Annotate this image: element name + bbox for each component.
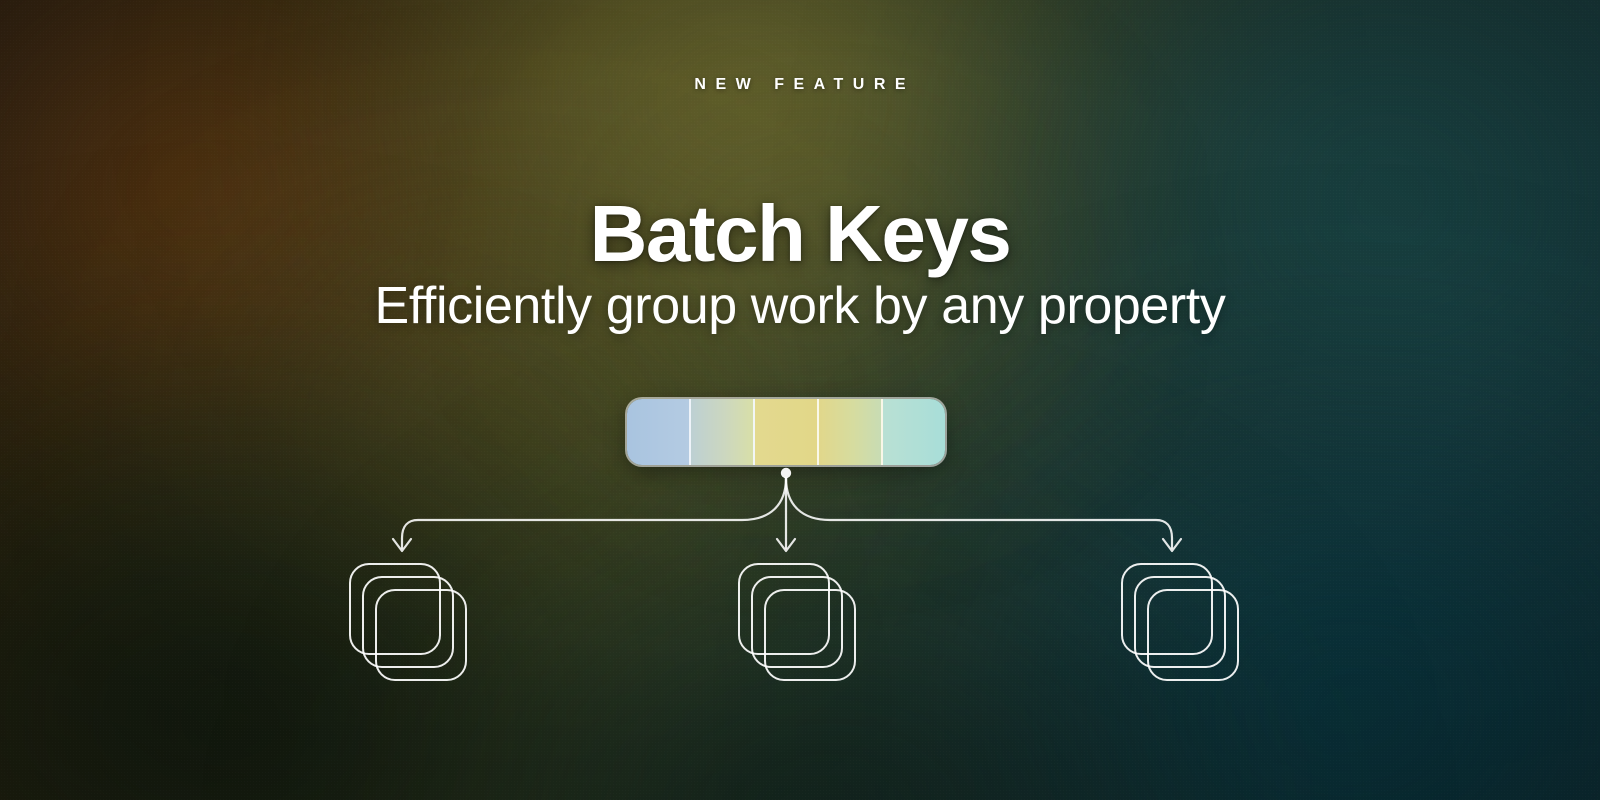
arrowhead-right bbox=[1163, 539, 1181, 551]
connector-path-right bbox=[786, 478, 1172, 548]
bar-segment-4[interactable] bbox=[819, 399, 883, 465]
eyebrow-label: NEW FEATURE bbox=[0, 76, 1600, 94]
card-outline-front bbox=[764, 589, 856, 681]
hero-banner: NEW FEATURE Batch Keys Efficiently group… bbox=[0, 0, 1600, 800]
card-stack-right[interactable] bbox=[1121, 563, 1239, 681]
batch-key-gradient-bar[interactable] bbox=[627, 399, 945, 465]
connector-path-left bbox=[402, 478, 786, 548]
card-stack-center[interactable] bbox=[738, 563, 856, 681]
arrowhead-center bbox=[777, 539, 795, 551]
card-outline-front bbox=[375, 589, 467, 681]
hero-content: NEW FEATURE Batch Keys Efficiently group… bbox=[0, 0, 1600, 800]
card-outline-front bbox=[1147, 589, 1239, 681]
junction-dot bbox=[781, 468, 791, 478]
page-title: Batch Keys bbox=[0, 194, 1600, 274]
bar-segment-3[interactable] bbox=[755, 399, 819, 465]
bar-segment-2[interactable] bbox=[691, 399, 755, 465]
page-subtitle: Efficiently group work by any property bbox=[0, 277, 1600, 335]
card-stack-left[interactable] bbox=[349, 563, 467, 681]
bar-segment-5[interactable] bbox=[883, 399, 945, 465]
bar-segment-1[interactable] bbox=[627, 399, 691, 465]
arrowhead-left bbox=[393, 539, 411, 551]
